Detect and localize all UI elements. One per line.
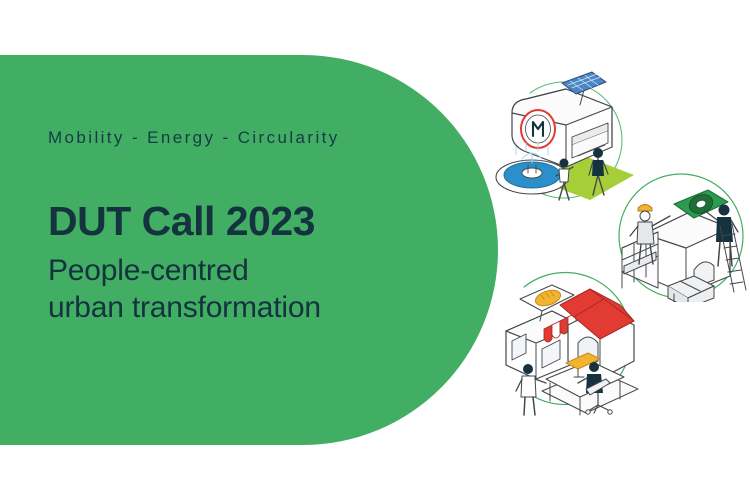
banner-text-block: Mobility - Energy - Circularity DUT Call… bbox=[48, 128, 448, 327]
banner-subheadline-line-2: urban transformation bbox=[48, 290, 448, 327]
insulation-roll bbox=[674, 190, 728, 218]
banner-tagline: Mobility - Energy - Circularity bbox=[48, 128, 448, 148]
banner-subheadline-line-1: People-centred bbox=[48, 253, 448, 290]
metro-m-sign bbox=[521, 110, 555, 148]
safety-helmet bbox=[638, 205, 652, 212]
neighbourhood-workspace-illustration bbox=[494, 265, 654, 420]
illustration-cluster bbox=[490, 50, 750, 430]
banner-headline: DUT Call 2023 bbox=[48, 200, 448, 243]
banner-subheadline: People-centred urban transformation bbox=[48, 253, 448, 326]
dut-call-banner: Mobility - Energy - Circularity DUT Call… bbox=[0, 0, 750, 500]
